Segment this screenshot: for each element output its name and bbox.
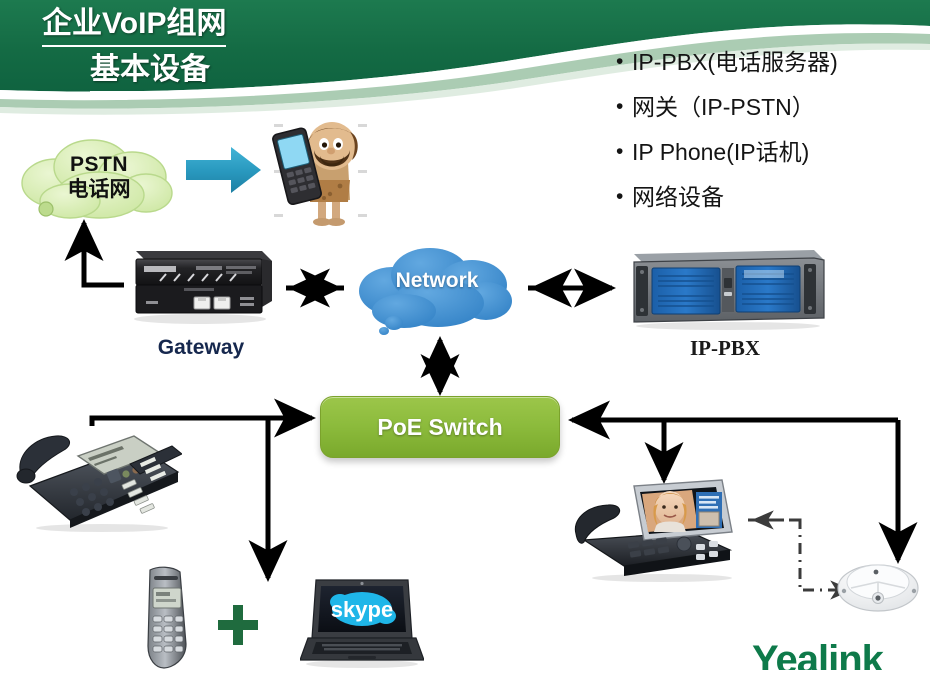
teal-right-arrow-icon [186,144,262,201]
network-diagram: PSTN 电话网 [0,108,930,670]
pstn-cloud-label: PSTN 电话网 [14,152,184,202]
list-item: • IP-PBX(电话服务器) [616,48,926,76]
ip-pbx-caption: IP-PBX [620,336,830,361]
pstn-label-line1: PSTN [14,152,184,177]
title-line-1: 企业VoIP组网 [42,4,226,47]
pstn-label-line2: 电话网 [14,177,184,202]
bullet-marker-icon: • [616,48,632,75]
poe-switch-box[interactable]: PoE Switch [320,396,560,458]
yealink-logo-text: Yealink [752,640,930,670]
network-cloud: Network [352,243,522,335]
pstn-cloud: PSTN 电话网 [14,133,184,225]
page-title: 企业VoIP组网 基本设备 [42,4,472,93]
video-ip-phone-image [570,478,740,586]
wireless-access-point-image [835,558,921,618]
plus-sign-icon [215,602,261,648]
caveman-mobile-user-figure [262,110,382,230]
ip-pbx-server-image [618,248,830,330]
svg-text:skype: skype [331,597,393,622]
bullet-text: IP-PBX(电话服务器) [632,48,838,76]
desk-ip-phone-image [12,424,182,534]
title-line-2: 基本设备 [90,50,210,93]
gateway-caption: Gateway [120,336,282,360]
gateway-device-image [122,239,280,329]
cordless-handset-image [138,566,194,670]
yealink-logo: Yealink [752,640,930,670]
poe-switch-label: PoE Switch [377,414,502,441]
network-cloud-label: Network [352,269,522,293]
softphone-laptop-image: skype [300,576,424,670]
